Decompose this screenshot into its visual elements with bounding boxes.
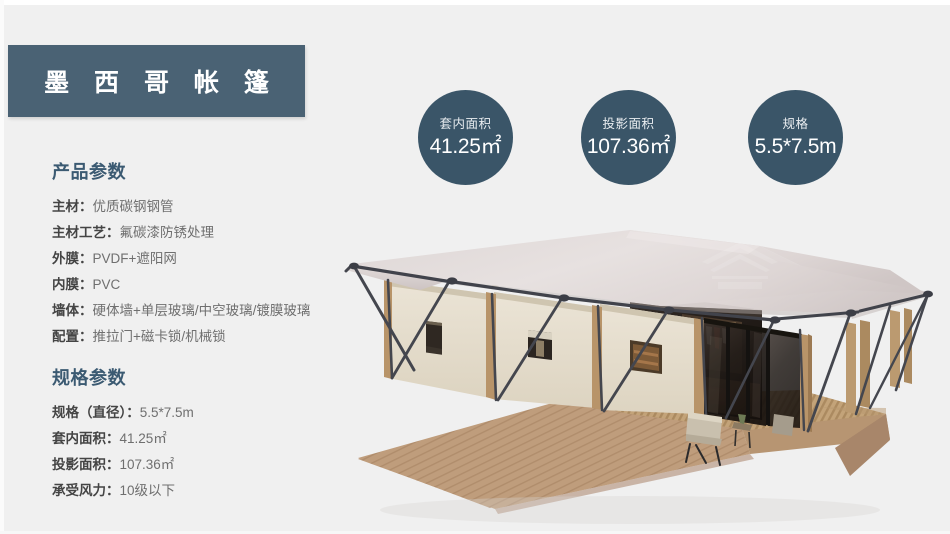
- spec-value: 氟碳漆防锈处理: [120, 225, 215, 240]
- spec-row: 套内面积：41.25㎡: [52, 426, 372, 452]
- spec-label: 投影面积：: [52, 457, 120, 472]
- spec-label: 内膜：: [52, 277, 93, 292]
- spec-list-dimensions: 规格（直径）：5.5*7.5m 套内面积：41.25㎡ 投影面积：107.36㎡…: [52, 400, 372, 504]
- spec-label: 外膜：: [52, 251, 93, 266]
- spec-label: 主材：: [52, 199, 93, 214]
- spec-value: 硬体墙+单层玻璃/中空玻璃/镀膜玻璃: [93, 303, 311, 318]
- spec-row: 主材：优质碳钢钢管: [52, 194, 372, 220]
- spec-label: 配置：: [52, 329, 93, 344]
- spec-row: 投影面积：107.36㎡: [52, 452, 372, 478]
- tent-illustration: [330, 218, 950, 534]
- spec-label: 墙体：: [52, 303, 93, 318]
- ground-shadow: [380, 496, 880, 524]
- spec-row: 外膜：PVDF+遮阳网: [52, 246, 372, 272]
- spec-row: 规格（直径）：5.5*7.5m: [52, 400, 372, 426]
- stat-badge-value: 107.36㎡: [587, 136, 670, 157]
- spec-value: 107.36㎡: [120, 457, 175, 472]
- spec-label: 承受风力：: [52, 483, 120, 498]
- spec-value: 41.25㎡: [120, 431, 167, 446]
- section-heading-product: 产品参数: [52, 163, 372, 183]
- stat-badge-projected-area: 投影面积 107.36㎡: [581, 90, 676, 185]
- spec-row: 墙体：硬体墙+单层玻璃/中空玻璃/镀膜玻璃: [52, 298, 372, 324]
- stat-badge-dimensions: 规格 5.5*7.5m: [748, 90, 843, 185]
- slide-root: 墨 西 哥 帐 篷 产品参数 主材：优质碳钢钢管 主材工艺：氟碳漆防锈处理 外膜…: [0, 0, 950, 534]
- section-heading-dimensions: 规格参数: [52, 369, 372, 389]
- spec-value: 5.5*7.5m: [140, 405, 194, 420]
- slide-edge-left: [0, 0, 4, 534]
- stat-badge-interior-area: 套内面积 41.25㎡: [418, 90, 513, 185]
- specifications-panel: 产品参数 主材：优质碳钢钢管 主材工艺：氟碳漆防锈处理 外膜：PVDF+遮阳网 …: [52, 163, 372, 504]
- spec-row: 承受风力：10级以下: [52, 478, 372, 504]
- spec-value: 推拉门+磁卡锁/机械锁: [93, 329, 226, 344]
- spec-value: PVDF+遮阳网: [93, 251, 177, 266]
- stat-badge-value: 41.25㎡: [430, 136, 502, 157]
- spec-label: 规格（直径）：: [52, 405, 140, 420]
- glass-sliding-doors: [704, 318, 802, 428]
- slide-edge-top: [0, 0, 950, 5]
- stat-badge-label: 投影面积: [602, 118, 654, 131]
- stat-badge-value: 5.5*7.5m: [755, 136, 837, 157]
- spec-row: 配置：推拉门+磁卡锁/机械锁: [52, 324, 372, 350]
- section-gap: [52, 350, 372, 369]
- spec-value: 10级以下: [120, 483, 176, 498]
- stat-badge-label: 规格: [782, 118, 808, 131]
- spec-list-product: 主材：优质碳钢钢管 主材工艺：氟碳漆防锈处理 外膜：PVDF+遮阳网 内膜：PV…: [52, 194, 372, 350]
- stat-badge-label: 套内面积: [439, 118, 491, 131]
- spec-label: 套内面积：: [52, 431, 120, 446]
- spec-row: 内膜：PVC: [52, 272, 372, 298]
- spec-row: 主材工艺：氟碳漆防锈处理: [52, 220, 372, 246]
- title-banner: 墨 西 哥 帐 篷: [8, 45, 305, 117]
- spec-value: 优质碳钢钢管: [93, 199, 174, 214]
- spec-value: PVC: [93, 277, 121, 292]
- page-title: 墨 西 哥 帐 篷: [35, 63, 278, 99]
- spec-label: 主材工艺：: [52, 225, 120, 240]
